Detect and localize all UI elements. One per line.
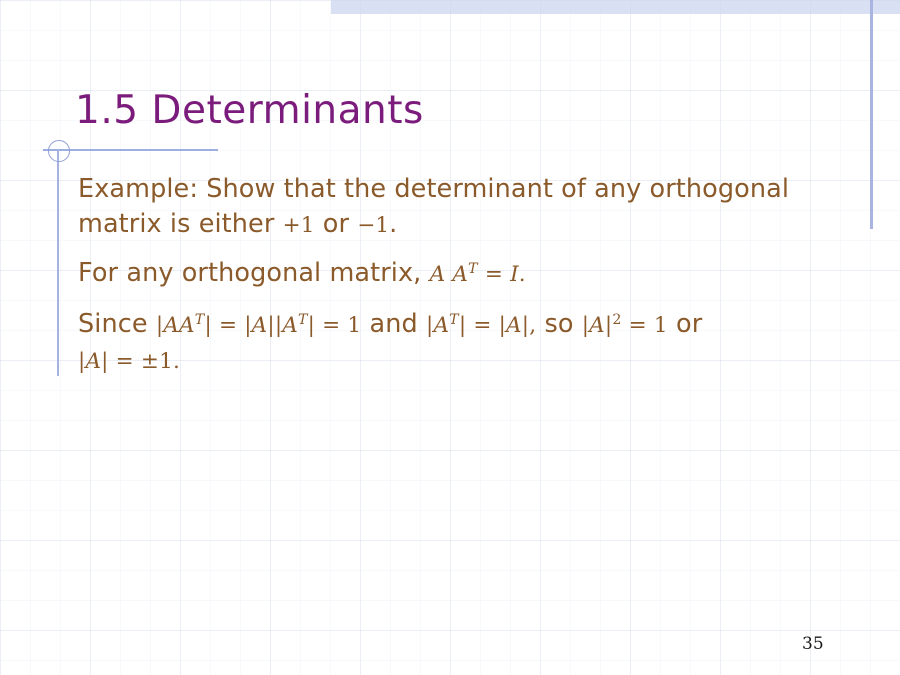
- abs-a-squared-base: |A|: [582, 313, 613, 338]
- paragraph-for-any: For any orthogonal matrix, A AT = I.: [78, 256, 823, 292]
- math-transpose-sup: T: [468, 261, 478, 277]
- equals-2: =: [315, 313, 347, 338]
- example-minus-one: −1: [357, 213, 389, 238]
- math-identity: I: [510, 262, 519, 287]
- abs-a-final: |A|: [78, 349, 109, 374]
- paragraph-example: Example: Show that the determinant of an…: [78, 172, 823, 243]
- abs-a-transpose-close: | = |A|: [459, 313, 529, 338]
- square-sup: 2: [612, 312, 621, 328]
- example-lead-text: Example: Show that the determinant of an…: [78, 174, 789, 239]
- matrix-aa: AA: [163, 313, 194, 338]
- abs-close-1: |: [204, 313, 211, 338]
- transpose-sup-2: T: [298, 312, 308, 328]
- slide-canvas: 1.5 Determinants Example: Show that the …: [0, 0, 900, 675]
- math-a-transpose-base: A: [452, 262, 468, 287]
- abs-a-abs-a-1: |A||A: [244, 313, 298, 338]
- slide-body: Example: Show that the determinant of an…: [78, 172, 823, 388]
- since-so-text: so: [536, 309, 582, 339]
- abs-a-transpose-open: |A: [426, 313, 449, 338]
- since-and-text: and: [361, 309, 426, 339]
- math-period: .: [519, 262, 526, 287]
- right-vertical-rule: [870, 0, 873, 229]
- left-vertical-rule: [57, 150, 59, 376]
- example-conjunction: or: [315, 209, 358, 239]
- math-equals: =: [478, 262, 510, 287]
- page-number: 35: [802, 634, 824, 654]
- since-equation-3: |A|2 = 1: [582, 313, 668, 338]
- equals-plus-minus-one: = ±1.: [109, 349, 180, 374]
- value-one-1: 1: [347, 313, 361, 338]
- transpose-sup-1: T: [195, 312, 205, 328]
- for-any-equation: A AT = I.: [430, 262, 526, 287]
- paragraph-since: Since |AAT| = |A||AT| = 1 and |AT| = |A|…: [78, 307, 823, 379]
- circle-bullet-icon: [48, 140, 70, 162]
- since-equation-2: |AT| = |A|,: [426, 313, 536, 338]
- transpose-sup-3: T: [449, 312, 459, 328]
- since-lead-text: Since: [78, 309, 156, 339]
- since-conclusion: |A| = ±1.: [78, 349, 180, 374]
- abs-close-2: |: [308, 313, 315, 338]
- math-a: A: [430, 262, 446, 287]
- for-any-lead-text: For any orthogonal matrix,: [78, 258, 430, 288]
- since-or-text: or: [668, 309, 703, 339]
- top-decorative-band: [331, 0, 900, 14]
- since-equation-1: |AAT| = |A||AT| = 1: [156, 313, 361, 338]
- slide-title: 1.5 Determinants: [75, 88, 424, 133]
- example-plus-one: +1: [283, 213, 315, 238]
- equals-3: =: [622, 313, 654, 338]
- equals-1: =: [212, 313, 244, 338]
- value-one-2: 1: [654, 313, 668, 338]
- example-period: .: [389, 209, 397, 239]
